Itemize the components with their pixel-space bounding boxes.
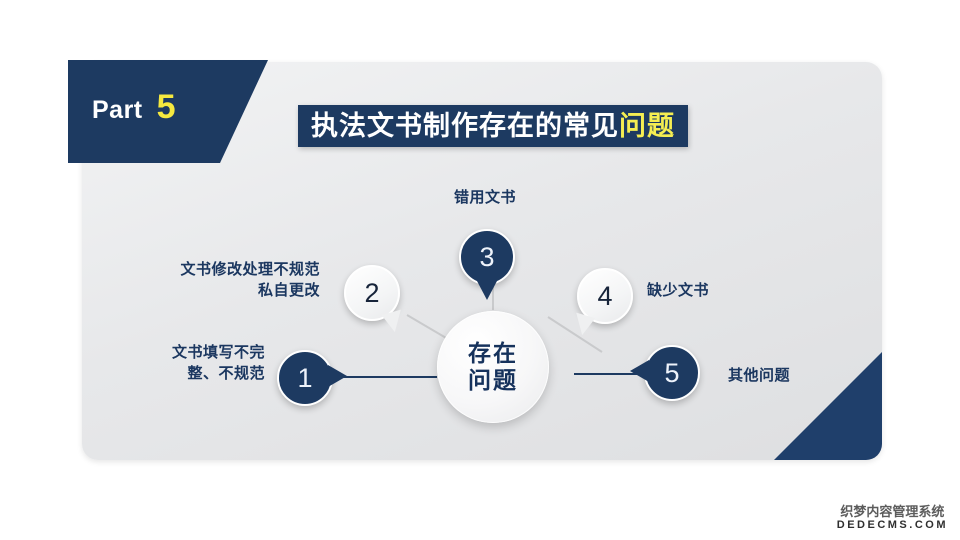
page-title: 执法文书制作存在的常见 xyxy=(311,113,619,140)
center-hub-line-1: 存在 xyxy=(468,340,518,367)
part-label: Part xyxy=(92,96,143,125)
node-bubble-2[interactable]: 2 xyxy=(344,265,400,321)
node-number-4: 4 xyxy=(597,281,612,312)
node-label-4: 缺少文书 xyxy=(647,281,807,302)
part-number: 5 xyxy=(157,90,176,124)
watermark: 织梦内容管理系统 DEDECMS.COM xyxy=(837,505,948,532)
node-bubble-5[interactable]: 5 xyxy=(644,345,700,401)
node-label-1: 文书填写不完 整、不规范 xyxy=(110,343,265,384)
node-number-3: 3 xyxy=(479,242,494,273)
watermark-en-text: DEDECMS.COM xyxy=(837,519,948,532)
center-hub-line-2: 问题 xyxy=(468,367,518,394)
node-number-1: 1 xyxy=(297,363,312,394)
node-number-5: 5 xyxy=(664,358,679,389)
center-hub: 存在 问题 xyxy=(437,311,549,423)
node-bubble-3[interactable]: 3 xyxy=(459,229,515,285)
part-banner-content: Part 5 xyxy=(92,90,176,125)
page-title-accent: 问题 xyxy=(619,113,675,140)
watermark-cn-text: 织梦内容管理系统 xyxy=(837,505,948,519)
node-label-3: 错用文书 xyxy=(425,188,545,209)
node-bubble-4[interactable]: 4 xyxy=(577,268,633,324)
slide-canvas: Part 5 执法文书制作存在的常见问题 存在 问题 1 文书填写不完 整、不规… xyxy=(0,0,960,540)
node-label-2: 文书修改处理不规范 私自更改 xyxy=(120,260,320,301)
node-label-5: 其他问题 xyxy=(728,366,888,387)
node-bubble-1[interactable]: 1 xyxy=(277,350,333,406)
slide-title-bar: 执法文书制作存在的常见问题 xyxy=(298,105,688,147)
node-number-2: 2 xyxy=(364,278,379,309)
